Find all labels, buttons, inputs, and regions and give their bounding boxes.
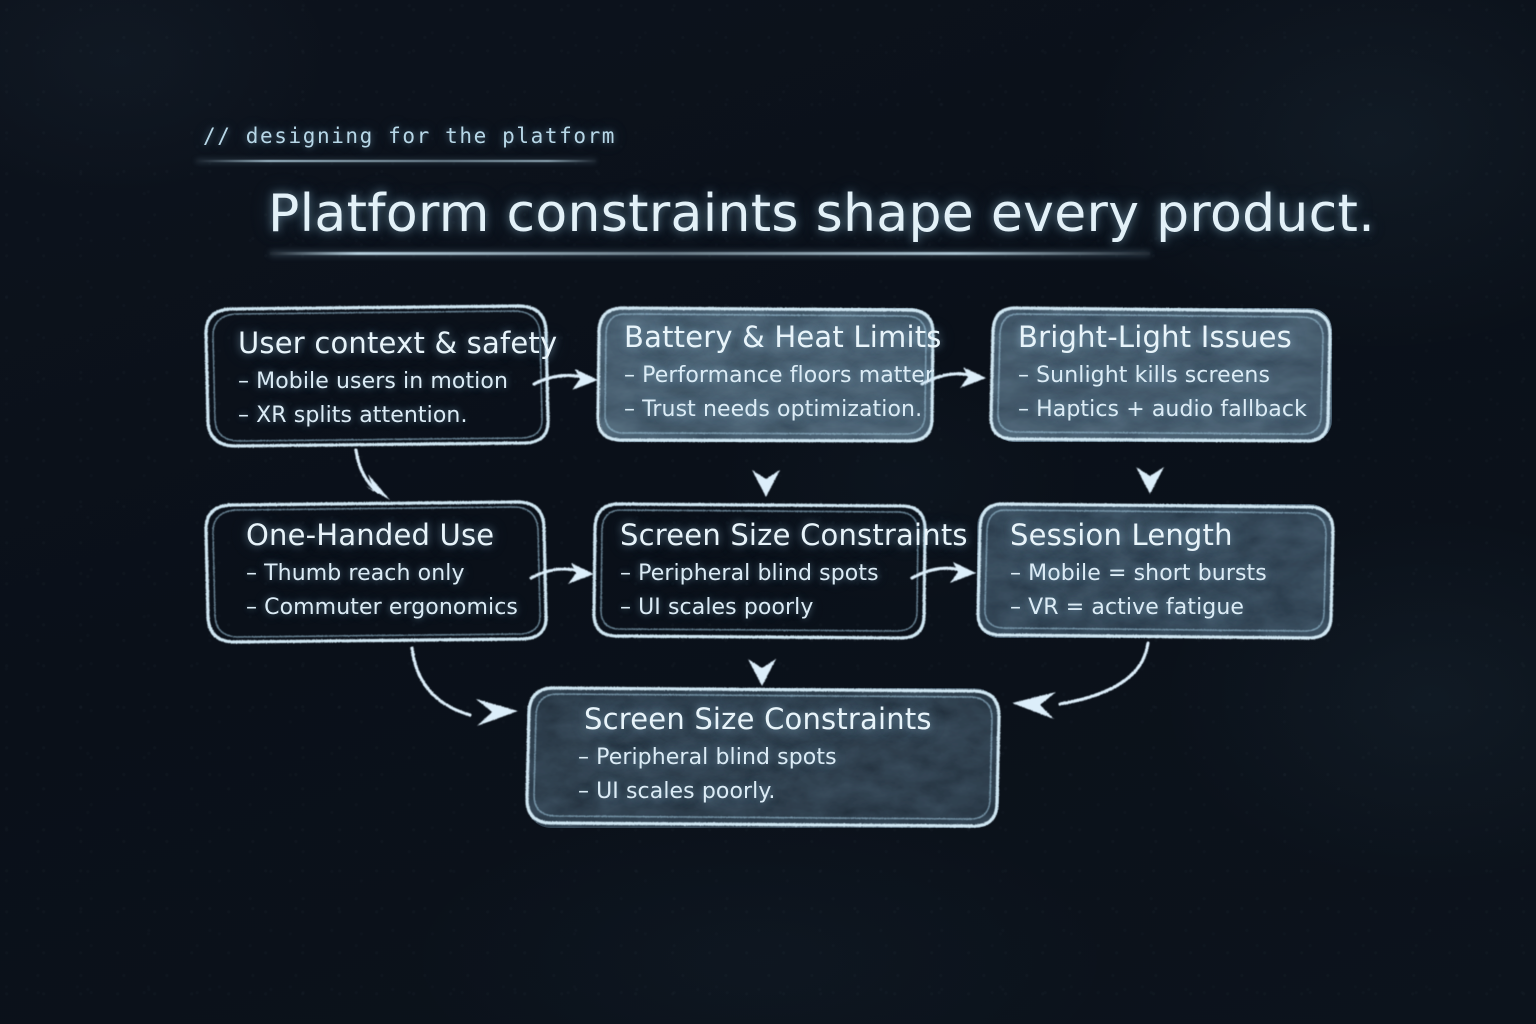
- bullet-text: XR splits attention.: [256, 403, 467, 428]
- bullet-dash: –: [620, 595, 631, 620]
- arrow-bright-light-to-session-length: [1136, 447, 1164, 494]
- bullet-dash: –: [238, 369, 249, 394]
- bullet-text: Thumb reach only: [264, 561, 464, 586]
- arrow-screen-size-to-summary: [748, 640, 776, 686]
- bullet-dash: –: [238, 403, 249, 428]
- node-bullet: –VR = active fatigue: [1010, 595, 1267, 620]
- node-bullet: –Haptics + audio fallback: [1018, 397, 1307, 422]
- bullet-text: Mobile = short bursts: [1028, 561, 1267, 586]
- node-title: One-Handed Use: [246, 518, 518, 552]
- arrow-session-length-to-summary: [1012, 643, 1148, 719]
- node-screen-size-constraints-summary[interactable]: Screen Size Constraints –Peripheral blin…: [584, 702, 932, 804]
- node-title: Screen Size Constraints: [620, 518, 968, 552]
- bullet-dash: –: [246, 595, 257, 620]
- bullet-dash: –: [578, 779, 589, 804]
- node-bullet: –Peripheral blind spots: [578, 745, 932, 770]
- node-bullet: –Commuter ergonomics: [246, 595, 518, 620]
- node-session-length[interactable]: Session Length –Mobile = short bursts –V…: [1010, 518, 1267, 620]
- bullet-dash: –: [1010, 561, 1021, 586]
- connector-arrows-layer: [0, 0, 1536, 1024]
- bullet-text: UI scales poorly: [638, 595, 813, 620]
- bullet-dash: –: [246, 561, 257, 586]
- node-bullet: –Trust needs optimization.: [624, 397, 942, 422]
- node-bullet: –Mobile users in motion: [238, 369, 557, 394]
- bullet-text: Trust needs optimization.: [642, 397, 922, 422]
- bullet-text: Haptics + audio fallback: [1036, 397, 1307, 422]
- node-bullet: –XR splits attention.: [238, 403, 557, 428]
- node-bullet: –Thumb reach only: [246, 561, 518, 586]
- node-screen-size-constraints[interactable]: Screen Size Constraints –Peripheral blin…: [620, 518, 968, 620]
- node-bullet: –Mobile = short bursts: [1010, 561, 1267, 586]
- bullet-text: Performance floors matter: [642, 363, 934, 388]
- bullet-text: Mobile users in motion: [256, 369, 508, 394]
- bullet-text: Peripheral blind spots: [638, 561, 879, 586]
- bullet-text: Commuter ergonomics: [264, 595, 518, 620]
- node-title: Battery & Heat Limits: [624, 320, 942, 354]
- node-title: User context & safety: [238, 326, 557, 360]
- bullet-dash: –: [620, 561, 631, 586]
- bullet-dash: –: [578, 745, 589, 770]
- arrow-battery-to-screen-size: [752, 447, 780, 497]
- bullet-dash: –: [1010, 595, 1021, 620]
- node-title: Screen Size Constraints: [584, 702, 932, 736]
- node-one-handed-use[interactable]: One-Handed Use –Thumb reach only –Commut…: [246, 518, 518, 620]
- bullet-dash: –: [1018, 363, 1029, 388]
- bullet-text: VR = active fatigue: [1028, 595, 1244, 620]
- bullet-dash: –: [1018, 397, 1029, 422]
- node-bullet: –UI scales poorly.: [578, 779, 932, 804]
- bullet-text: Sunlight kills screens: [1036, 363, 1270, 388]
- node-title: Bright-Light Issues: [1018, 320, 1307, 354]
- node-title: Session Length: [1010, 518, 1267, 552]
- node-bright-light-issues[interactable]: Bright-Light Issues –Sunlight kills scre…: [1018, 320, 1307, 422]
- node-battery-heat-limits[interactable]: Battery & Heat Limits –Performance floor…: [624, 320, 942, 422]
- node-bullet: –UI scales poorly: [620, 595, 968, 620]
- node-bullet: –Sunlight kills screens: [1018, 363, 1307, 388]
- arrow-one-handed-to-screen-size: [531, 563, 594, 584]
- bullet-dash: –: [624, 397, 635, 422]
- arrow-user-context-to-one-handed: [356, 450, 390, 500]
- node-user-context-safety[interactable]: User context & safety –Mobile users in m…: [238, 326, 557, 428]
- bullet-text: UI scales poorly.: [596, 779, 775, 804]
- bullet-dash: –: [624, 363, 635, 388]
- node-bullet: –Performance floors matter: [624, 363, 942, 388]
- arrow-one-handed-to-summary: [412, 648, 518, 726]
- node-bullet: –Peripheral blind spots: [620, 561, 968, 586]
- bullet-text: Peripheral blind spots: [596, 745, 837, 770]
